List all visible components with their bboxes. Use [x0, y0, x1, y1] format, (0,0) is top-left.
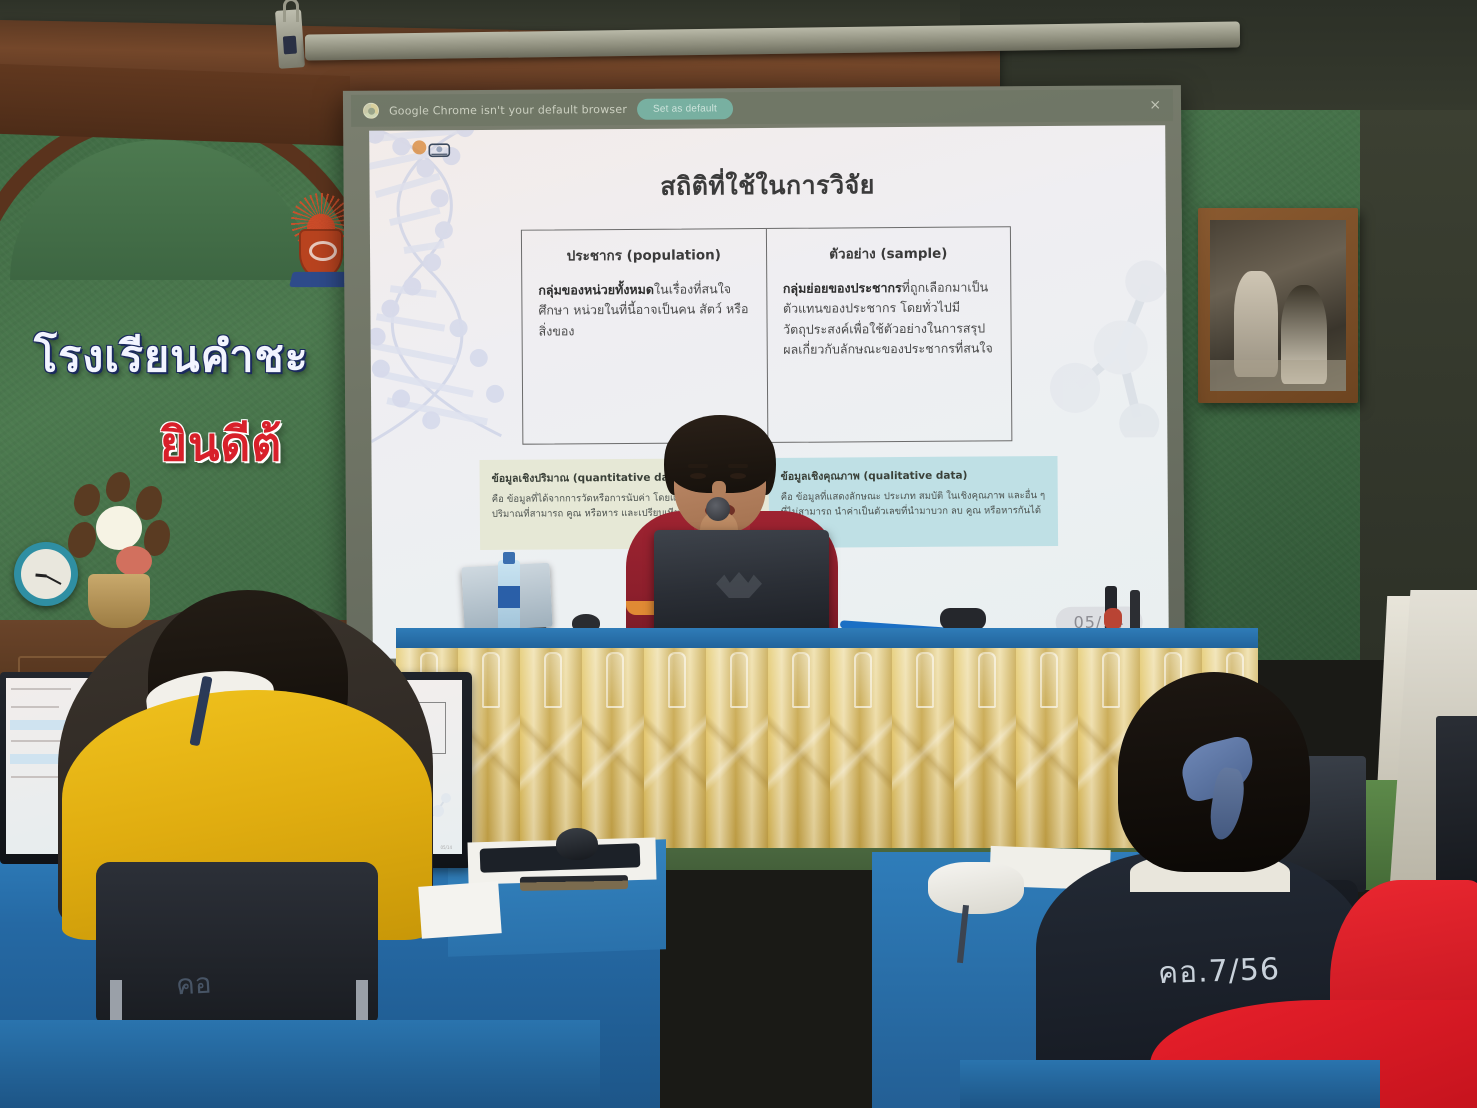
chair-left-marking: คอ: [175, 957, 307, 1012]
water-bottle-cap: [503, 552, 515, 564]
dried-leaf: [68, 522, 96, 558]
paper-sheet: [418, 881, 501, 938]
population-lead: กลุ่มของหน่วยทั้งหมด: [538, 282, 654, 298]
right-wall: [1360, 100, 1477, 660]
presenter-eye-left: [690, 473, 706, 479]
screen-strap: [283, 0, 299, 22]
clock-minute-hand: [46, 575, 62, 585]
computer-mouse[interactable]: [556, 828, 598, 860]
face-mask: [928, 862, 1024, 914]
dried-leaf: [74, 484, 100, 516]
column-body-sample: กลุ่มย่อยของประชากรที่ถูกเลือกมาเป็นตัวแ…: [783, 277, 995, 359]
sample-lead: กลุ่มย่อยของประชากร: [783, 280, 902, 296]
white-lily-bloom: [96, 506, 142, 550]
comb: [520, 875, 628, 891]
population-sample-table: ประชากร (population) กลุ่มของหน่วยทั้งหม…: [521, 226, 1012, 444]
presenter-eyebrow-right: [728, 464, 748, 468]
chrome-default-browser-banner: Google Chrome isn't your default browser…: [351, 89, 1173, 127]
student-table-bottom-right: [960, 1060, 1380, 1108]
bracket-lens: [283, 36, 297, 55]
chair-right-label: คอ.7/56: [1157, 946, 1281, 997]
presenter-eye-right: [730, 473, 746, 479]
laptop-brand-logo-icon: [716, 572, 762, 598]
red-microphone-head: [1104, 608, 1122, 630]
molecule-icon: [1048, 237, 1169, 438]
chrome-logo-icon: [363, 103, 379, 119]
water-bottle-label: [498, 586, 520, 608]
flower-arrangement: [62, 470, 182, 630]
wooden-valance-lower: [0, 64, 350, 146]
column-header-sample: ตัวอย่าง (sample): [782, 241, 994, 264]
laptop-far-right[interactable]: [1436, 716, 1477, 896]
pink-bloom: [116, 546, 152, 576]
dried-leaf: [136, 486, 162, 520]
student-table-bottom-left: [0, 1020, 600, 1108]
classroom-presentation-scene: โรงเรียนคำชะ ยินดีต้: [0, 0, 1477, 1108]
chrome-banner-message: Google Chrome isn't your default browser: [389, 102, 627, 117]
column-header-population: ประชากร (population): [538, 243, 750, 266]
slide-title: สถิติที่ใช้ในการวิจัย: [369, 163, 1165, 209]
dried-leaf: [106, 472, 130, 502]
microphone-head-icon: [706, 497, 730, 521]
desk-device: [940, 608, 986, 630]
close-banner-icon[interactable]: ×: [1149, 98, 1161, 112]
set-as-default-button[interactable]: Set as default: [637, 98, 733, 120]
presenter-nose: [712, 481, 726, 497]
presenter-eyebrow-left: [688, 464, 708, 468]
photo-caption-band: [1210, 360, 1346, 391]
table-column-sample: ตัวอย่าง (sample) กลุ่มย่อยของประชากรที่…: [765, 227, 1011, 442]
slide-school-logo-icon: [409, 138, 455, 166]
column-body-population: กลุ่มของหน่วยทั้งหมดในเรื่องที่สนใจศึกษา…: [538, 279, 750, 341]
photo-image: [1210, 220, 1346, 391]
emblem-ring: [309, 241, 337, 261]
framed-photograph: [1198, 208, 1358, 403]
presenter-laptop[interactable]: [654, 530, 829, 635]
table-column-population: ประชากร (population) กลุ่มของหน่วยทั้งหม…: [522, 229, 767, 444]
student-slide-page: 05/14: [440, 845, 452, 850]
flower-vase: [88, 574, 150, 628]
